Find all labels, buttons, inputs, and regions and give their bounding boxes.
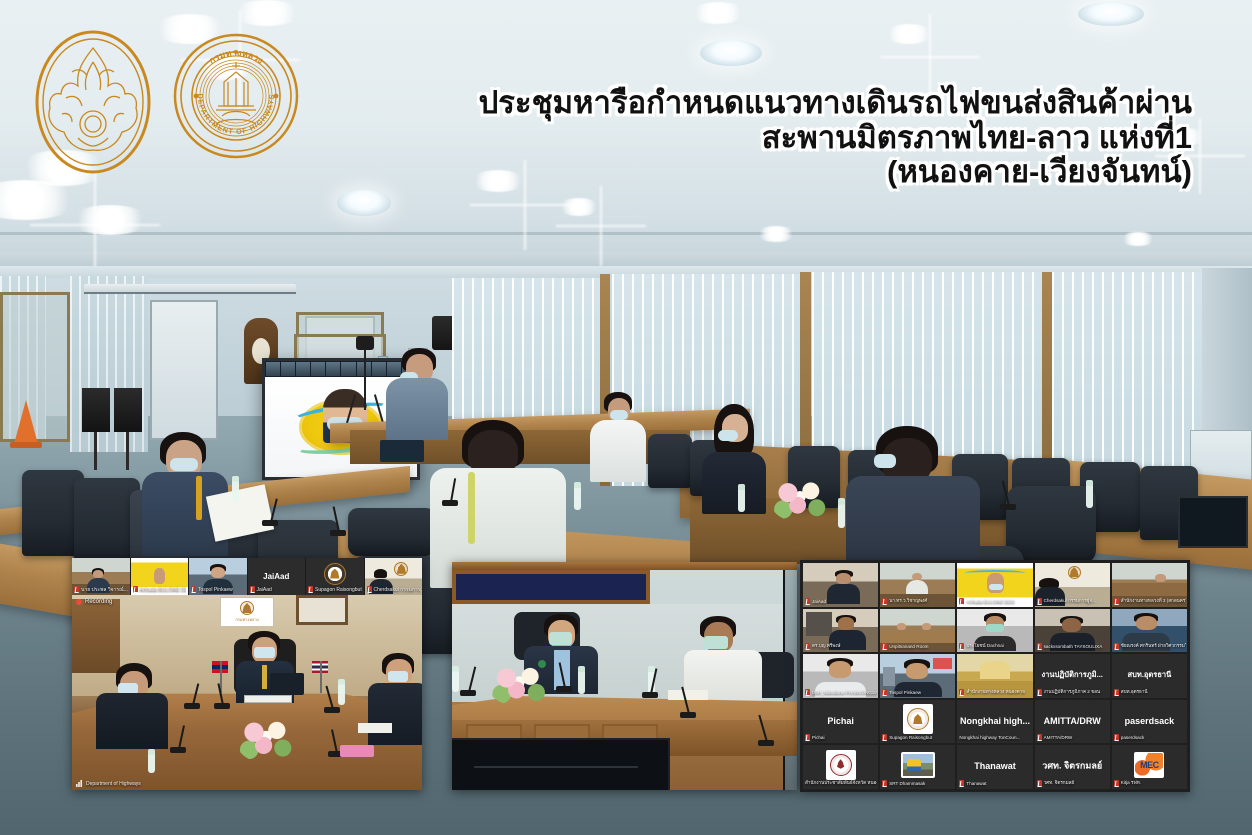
framed-picture — [296, 595, 348, 625]
department-of-highways-seal: กรมทางหลวง DEPARTMENT OF HIGHWAYS — [172, 32, 300, 160]
grid-tile[interactable]: sackxsombath TAYSOULIXA — [1035, 609, 1110, 653]
page-title: ประชุมหารือกำหนดแนวทางเดินรถไฟขนส่งสินค้… — [479, 86, 1192, 190]
grid-tile[interactable]: DoR_Nilundone PHANVONGSA — [803, 654, 878, 698]
royal-garuda-seal — [32, 28, 154, 176]
mute-icon — [882, 689, 887, 696]
participant-name: สำนักงานทางหลวง หนองคาย — [959, 688, 1031, 697]
grid-tile[interactable]: วศท. จิตรกมลย์ วศท. จิตรกมลย์ — [1035, 745, 1110, 789]
screen-filmstrip — [265, 361, 417, 377]
chair — [648, 434, 692, 488]
participant-name: Thanawat — [959, 779, 1031, 788]
participant-name: Nongkhai highway TonCoun... — [959, 733, 1031, 742]
grid-tile[interactable]: นา.ทร.ว.วิชาญพงศ์ — [880, 563, 955, 607]
water-bottle — [578, 666, 585, 694]
flower-arrangement — [236, 719, 296, 763]
doh-seal-icon — [907, 708, 929, 730]
water-bottle — [148, 749, 155, 773]
roller-shadow — [84, 292, 296, 294]
participant-display-name: Pichai — [803, 716, 878, 726]
water-bottle — [1086, 480, 1093, 508]
participant-name: Cherdsakul กรรมการผู้จ... — [367, 585, 421, 594]
mute-icon — [882, 643, 887, 650]
screenshot-stage: PV — [0, 0, 1252, 835]
participant-name: วศท. จิตรกมลย์ — [1037, 779, 1109, 788]
flower-arrangement — [488, 666, 550, 706]
participant-name: SRT Dhammasak — [882, 779, 954, 788]
participant-name: sackxsombath TAYSOULIXA — [1037, 642, 1109, 651]
participant-grid: JaiAad นา.ทร.ว.วิชาญพงศ์ — [803, 563, 1187, 789]
grid-tile[interactable]: SRT Dhammasak — [880, 745, 955, 789]
ceiling-lamp — [1078, 2, 1144, 26]
mute-icon — [882, 780, 887, 787]
mute-icon — [882, 598, 887, 605]
signal-icon — [76, 780, 83, 787]
participant-name: Arthada BULOME DDG — [959, 597, 1031, 606]
participant-name: DoR_Nilundone PHANVONGSA — [805, 688, 877, 697]
mute-icon — [250, 586, 255, 593]
mute-icon — [1037, 780, 1042, 787]
grid-tile[interactable]: Thanawat Thanawat — [957, 745, 1032, 789]
avatar: MEC — [1132, 751, 1166, 779]
ceiling-light — [558, 198, 600, 216]
provincial-seal-icon — [830, 754, 852, 776]
grid-tile[interactable]: สำนักงานประชาสัมพันธ์จังหวัด หนองคาย... — [803, 745, 878, 789]
traffic-cone-base — [10, 442, 42, 448]
video-panel-center[interactable] — [452, 562, 797, 790]
participant-name: JaiAad — [805, 597, 877, 606]
filmstrip: นาย ประพล วิจารณ์... Arthada BULOME DDG … — [72, 558, 422, 595]
chair — [348, 508, 436, 556]
participant-name: งานปฏิบัติการภูมิภาค 2 ขอน — [1037, 688, 1109, 697]
camera — [356, 336, 374, 350]
water-bottle — [338, 679, 345, 705]
mute-icon — [882, 734, 887, 741]
mute-icon — [1037, 643, 1042, 650]
water-bottle — [232, 476, 239, 502]
recording-indicator: Recording — [76, 599, 112, 605]
grid-tile[interactable]: AMITTA/DRW AMITTA/DRW — [1035, 700, 1110, 744]
mute-icon — [1114, 780, 1119, 787]
monitor — [452, 738, 670, 790]
tripod-leg — [364, 350, 366, 410]
participant-name: ประโยชน์ Dachnai — [959, 642, 1031, 651]
filmstrip-tile[interactable]: Tospol Pinkaew — [189, 558, 247, 595]
mute-icon — [191, 586, 196, 593]
mute-icon — [1114, 734, 1119, 741]
mute-icon — [959, 689, 964, 696]
participant-name: Kitja รฟท. — [1114, 779, 1186, 788]
participant-name: Supagon Raisongbut — [308, 585, 362, 594]
doh-banner: กรมทางหลวง — [220, 597, 274, 627]
mute-icon — [1037, 734, 1042, 741]
ceiling-lamp — [337, 190, 391, 216]
participant-name: paserdsack — [1114, 733, 1186, 742]
water-bottle — [838, 498, 845, 528]
water-bottle — [452, 666, 459, 692]
water-bottle — [574, 482, 581, 510]
mute-icon — [805, 689, 810, 696]
grid-tile[interactable]: MEC Kitja รฟท. — [1112, 745, 1187, 789]
watermark: Department of Highways — [76, 780, 141, 787]
title-line-3: (หนองคาย-เวียงจันทน์) — [479, 155, 1192, 190]
door — [72, 599, 120, 673]
participant-name: AMITTA/DRW — [1037, 733, 1109, 742]
participant-name: สำนักงานทางหลวงที่ 3 (สกลนคร) — [1114, 597, 1186, 606]
pa-speaker — [114, 388, 142, 432]
title-line-2: สะพานมิตรภาพไทย-ลาว แห่งที่1 — [479, 121, 1192, 156]
participant-name: Tospol Pinkaew — [191, 585, 245, 594]
ceiling-light — [1120, 232, 1156, 246]
record-dot-icon — [76, 599, 82, 605]
filmstrip-tile[interactable]: Supagon Raisongbut — [306, 558, 364, 595]
ceiling-light — [70, 205, 150, 235]
speaker-stand — [126, 432, 129, 470]
grid-tile[interactable]: Pichai Pichai — [803, 700, 878, 744]
participant-display-name: AMITTA/DRW — [1035, 716, 1110, 726]
mute-icon — [367, 586, 372, 593]
grid-tile[interactable]: Unpitsanand Room — [880, 609, 955, 653]
grid-tile[interactable]: Cherdsakul กรรมการผู้จ... — [1035, 563, 1110, 607]
grid-tile-active-speaker[interactable]: Arthada BULOME DDG — [957, 563, 1032, 607]
grid-tile[interactable]: สบท.อุตรธานี สบท.อุตรธานี — [1112, 654, 1187, 698]
center-main-video — [452, 562, 797, 790]
participant-display-name: วศท. จิตรกมลย์ — [1035, 759, 1110, 773]
ceiling-light — [232, 0, 302, 26]
mute-icon — [805, 598, 810, 605]
participant-name: Pichai — [805, 733, 877, 742]
doh-avatar-icon — [324, 563, 346, 585]
participant-display-name: paserdsack — [1112, 716, 1187, 726]
video-grid-panel[interactable]: JaiAad นา.ทร.ว.วิชาญพงศ์ — [800, 560, 1190, 792]
notice-board — [452, 570, 650, 604]
participant-name: Arthada BULOME DDG — [133, 585, 187, 594]
grid-tile[interactable]: งานปฏิบัติการภูมิ... งานปฏิบัติการภูมิภา… — [1035, 654, 1110, 698]
laptop — [270, 673, 304, 695]
mec-logo-icon: MEC — [1134, 752, 1164, 778]
train-icon — [903, 754, 933, 776]
grid-tile[interactable]: JaiAad — [803, 563, 878, 607]
laptop — [380, 440, 424, 462]
document — [358, 723, 392, 733]
avatar — [826, 750, 856, 780]
grid-tile[interactable]: ชัยณรงค์ ศกรินทร์ ฝ่ายวิศวกรรมโครงสร้าง.… — [1112, 609, 1187, 653]
participant-name: JaiAad — [250, 585, 304, 594]
grid-tile[interactable]: Tospol Pinkaew — [880, 654, 955, 698]
filmstrip-tile[interactable]: Arthada BULOME DDG — [131, 558, 189, 595]
grid-tile[interactable]: สำนักงานทางหลวงที่ 3 (สกลนคร) — [1112, 563, 1187, 607]
grid-tile[interactable]: ดร.บุญ ศรีพงษ์ — [803, 609, 878, 653]
participant-name: Cherdsakul กรรมการผู้จ... — [1037, 597, 1109, 606]
grid-tile[interactable]: สำนักงานทางหลวง หนองคาย — [957, 654, 1032, 698]
desk-monitor — [1178, 496, 1248, 548]
avatar — [901, 752, 935, 778]
mute-icon — [1037, 689, 1042, 696]
participant-name: Unpitsanand Room — [882, 642, 954, 651]
participant-name: ชัยณรงค์ ศกรินทร์ ฝ่ายวิศวกรรมโครงสร้าง.… — [1114, 642, 1186, 651]
participant-display-name: งานปฏิบัติการภูมิ... — [1035, 669, 1110, 681]
mute-icon — [308, 586, 313, 593]
traffic-cone — [14, 400, 38, 444]
mute-icon — [133, 586, 138, 593]
name-plate — [244, 695, 292, 703]
door — [150, 300, 218, 440]
participant-display-name: Nongkhai high... — [957, 716, 1032, 726]
grid-tile[interactable]: ประโยชน์ Dachnai — [957, 609, 1032, 653]
documents — [668, 690, 708, 700]
ceiling-light — [690, 2, 746, 24]
ceiling-seam — [0, 232, 1252, 235]
video-panel-left[interactable]: นาย ประพล วิจารณ์... Arthada BULOME DDG … — [72, 558, 422, 790]
participant-name: นาย ประพล วิจารณ์... — [74, 585, 128, 594]
mute-icon — [959, 780, 964, 787]
mute-icon — [959, 643, 964, 650]
mute-icon — [1114, 689, 1119, 696]
mute-icon — [74, 586, 79, 593]
left-main-video: กรมทางหลวง — [72, 595, 422, 790]
participant-name: Supagon Raisongbut — [882, 733, 954, 742]
title-line-1: ประชุมหารือกำหนดแนวทางเดินรถไฟขนส่งสินค้… — [479, 86, 1192, 121]
mute-icon — [959, 598, 964, 605]
participant-name: นา.ทร.ว.วิชาญพงศ์ — [882, 597, 954, 606]
participant-name: ดร.บุญ ศรีพงษ์ — [805, 642, 877, 651]
participant-name: Tospol Pinkaew — [882, 688, 954, 697]
avatar — [903, 704, 933, 734]
participant-name: สบท.อุตรธานี — [1114, 688, 1186, 697]
participant-display-name: สบท.อุตรธานี — [1112, 669, 1187, 681]
filmstrip-tile[interactable]: Cherdsakul กรรมการผู้จ... — [365, 558, 423, 595]
grid-tile[interactable]: paserdsack paserdsack — [1112, 700, 1187, 744]
speaker-stand — [94, 432, 97, 470]
pa-speaker — [82, 388, 110, 432]
filmstrip-tile[interactable]: JaiAad JaiAad — [248, 558, 306, 595]
document — [340, 745, 374, 757]
water-bottle — [738, 484, 745, 512]
filmstrip-tile[interactable]: นาย ประพล วิจารณ์... — [72, 558, 130, 595]
grid-tile[interactable]: Supagon Raisongbut — [880, 700, 955, 744]
mute-icon — [1114, 643, 1119, 650]
mute-icon — [805, 643, 810, 650]
flower-arrangement — [770, 480, 830, 522]
ceiling-light — [756, 226, 796, 242]
mute-icon — [805, 734, 810, 741]
mute-icon — [1114, 598, 1119, 605]
ceiling-light — [884, 24, 934, 44]
ceiling-lamp — [700, 40, 762, 66]
participant-display-name: Thanawat — [957, 761, 1032, 771]
grid-tile[interactable]: Nongkhai high... Nongkhai highway TonCou… — [957, 700, 1032, 744]
mute-icon — [1037, 598, 1042, 605]
participant-name: สำนักงานประชาสัมพันธ์จังหวัด หนองคาย... — [805, 779, 877, 788]
